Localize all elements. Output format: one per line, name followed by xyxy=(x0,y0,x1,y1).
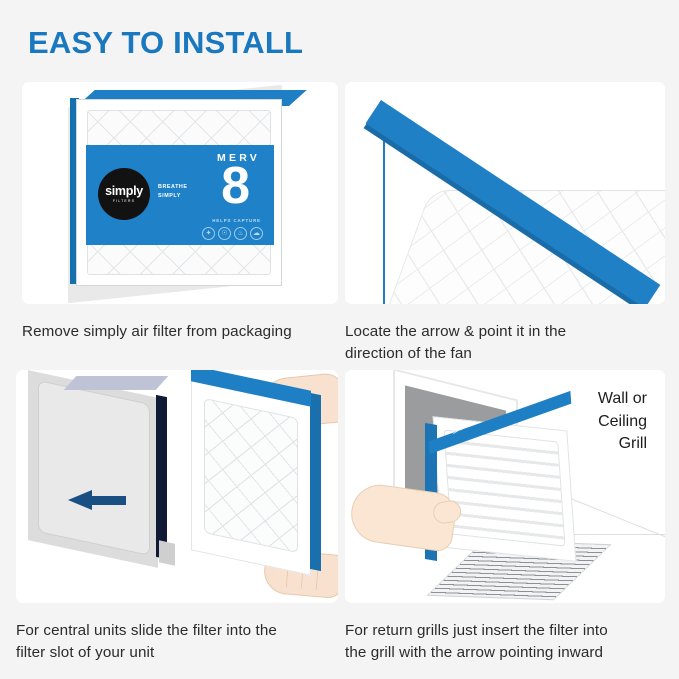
smoke-icon: ☁ xyxy=(250,227,263,240)
filter-media xyxy=(204,398,298,553)
hvac-unit-lip xyxy=(159,540,175,565)
airflow-arrows-icon: ➤➤ xyxy=(155,109,169,117)
brand-tagline: BREATHE SIMPLY xyxy=(158,183,188,202)
grill-door-louvers xyxy=(444,429,566,546)
arrow-shaft xyxy=(92,496,126,505)
step-4-illustration-card: ⟶ Wall or Ceiling Grill xyxy=(345,370,665,603)
step-4-caption-line-2: the grill with the arrow pointing inward xyxy=(345,642,665,664)
step-3-caption-line-2: filter slot of your unit xyxy=(16,642,338,664)
step-3-caption-line-1: For central units slide the filter into … xyxy=(16,620,338,642)
install-instructions-page: EASY TO INSTALL ➤➤ simply FILTERS xyxy=(0,0,679,679)
merv-rating-value: 8 xyxy=(221,160,250,212)
step-1-caption: Remove simply air filter from packaging xyxy=(22,321,338,343)
step-2-illustration-card: ⬈⬈ xyxy=(345,82,665,304)
step-2-caption: Locate the arrow & point it in the direc… xyxy=(345,321,665,364)
hvac-unit-dark-edge xyxy=(156,395,167,559)
step-2: ⬈⬈ Locate the arrow & point it in the di… xyxy=(345,82,665,372)
pollen-icon: ✦ xyxy=(202,227,215,240)
return-grill-illustration: ⟶ Wall or Ceiling Grill xyxy=(345,370,665,603)
step-3: ⟶ For central units slide the filter int… xyxy=(16,370,338,666)
page-title: EASY TO INSTALL xyxy=(28,26,303,60)
brand-tagline-line-1: BREATHE xyxy=(158,183,188,192)
air-filter: ⟶ xyxy=(191,388,311,563)
dust-icon: ☉ xyxy=(218,227,231,240)
filter-vertical-edge xyxy=(383,120,385,304)
step-2-caption-line-2: direction of the fan xyxy=(345,343,665,365)
slide-direction-arrow-icon xyxy=(68,490,126,510)
annotation-line-3: Grill xyxy=(598,433,647,456)
ceiling-edge-line xyxy=(559,494,665,540)
box-blue-label: simply FILTERS BREATHE SIMPLY MERV 8 HEL… xyxy=(86,145,274,245)
brand-logo-subword: FILTERS xyxy=(113,199,135,203)
filter-arrow-marking-icon: ⟶ xyxy=(232,370,243,379)
box-front-face: ➤➤ simply FILTERS BREATHE SIMPLY MERV xyxy=(76,99,282,286)
airflow-direction-illustration: ⬈⬈ xyxy=(345,82,665,304)
brand-logo: simply FILTERS xyxy=(98,168,150,220)
pet-dander-icon: ♨ xyxy=(234,227,247,240)
helps-capture-label: HELPS CAPTURE xyxy=(212,218,261,223)
capture-icons-row: ✦ ☉ ♨ ☁ xyxy=(202,227,263,240)
hvac-unit-front-panel xyxy=(38,380,150,556)
annotation-line-2: Ceiling xyxy=(598,411,647,434)
step-3-illustration-card: ⟶ xyxy=(16,370,338,603)
step-1: ➤➤ simply FILTERS BREATHE SIMPLY MERV xyxy=(22,82,338,372)
step-4: ⟶ Wall or Ceiling Grill For return grill… xyxy=(345,370,665,666)
step-2-caption-line-1: Locate the arrow & point it in the xyxy=(345,321,665,343)
central-unit-illustration: ⟶ xyxy=(16,370,338,603)
filter-blue-side-edge xyxy=(310,393,321,571)
arrow-head xyxy=(68,490,92,510)
step-3-caption: For central units slide the filter into … xyxy=(16,620,338,663)
wall-or-ceiling-grill-annotation: Wall or Ceiling Grill xyxy=(598,388,647,456)
steps-grid: ➤➤ simply FILTERS BREATHE SIMPLY MERV xyxy=(0,78,679,678)
step-4-caption-line-1: For return grills just insert the filter… xyxy=(345,620,665,642)
hvac-unit-slot xyxy=(64,376,169,390)
brand-tagline-line-2: SIMPLY xyxy=(158,192,188,201)
grill-door: ⟶ xyxy=(437,424,572,554)
brand-logo-word: simply xyxy=(105,185,143,198)
annotation-line-1: Wall or xyxy=(598,388,647,411)
step-4-caption: For return grills just insert the filter… xyxy=(345,620,665,663)
step-1-illustration-card: ➤➤ simply FILTERS BREATHE SIMPLY MERV xyxy=(22,82,338,304)
filter-box-illustration: ➤➤ simply FILTERS BREATHE SIMPLY MERV xyxy=(22,82,338,304)
